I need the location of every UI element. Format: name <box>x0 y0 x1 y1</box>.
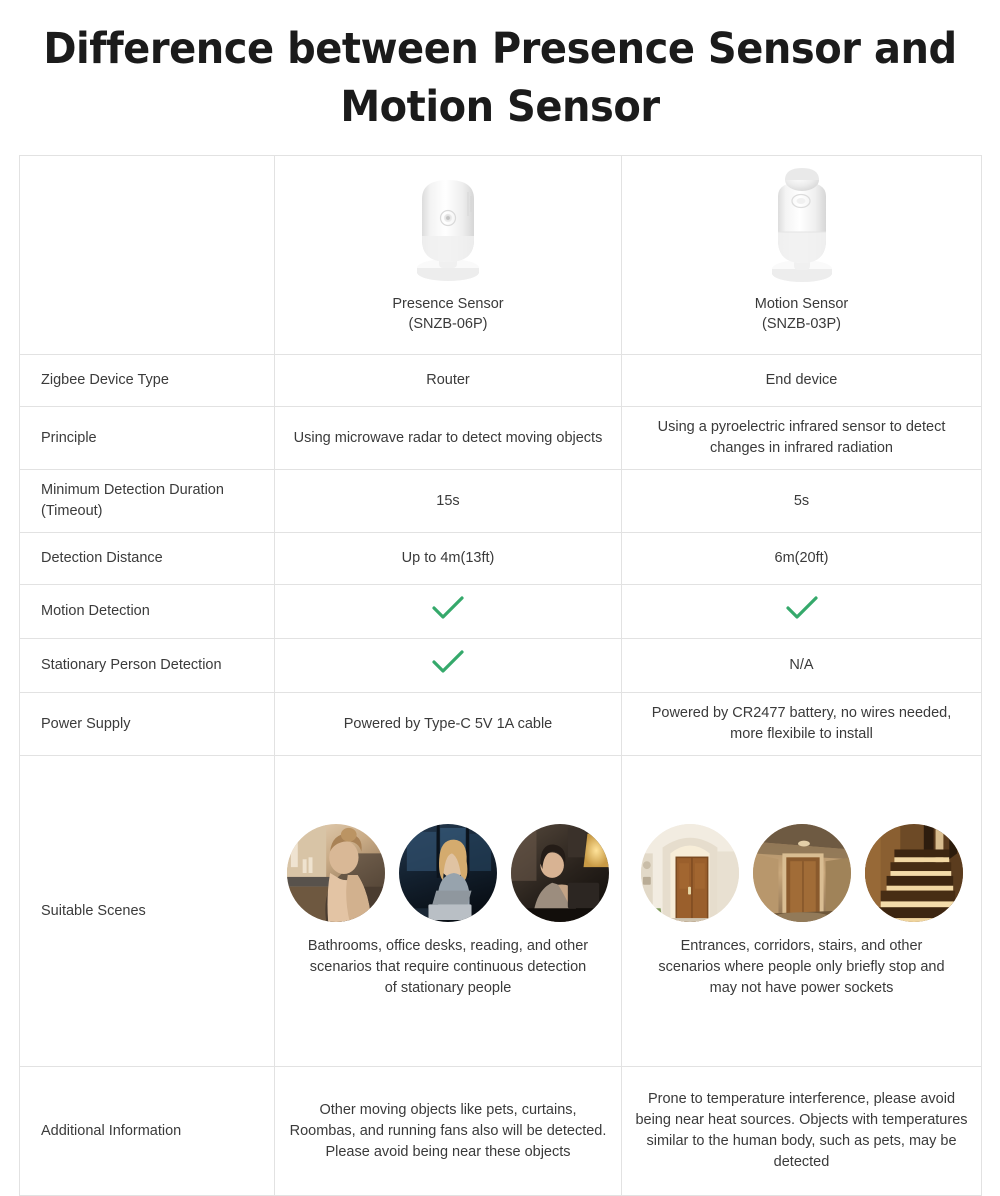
product-a-header-cell: Presence Sensor (SNZB-06P) <box>275 156 622 355</box>
row-value-b-detection-distance: 6m(20ft) <box>622 533 982 585</box>
scene-caption-b: Entrances, corridors, stairs, and other … <box>634 936 969 1003</box>
row-value-a-stationary-person-detection <box>275 639 622 693</box>
table-header-row: Presence Sensor (SNZB-06P) <box>20 156 982 355</box>
row-value-a-principle: Using microwave radar to detect moving o… <box>275 407 622 470</box>
scene-photo-group-a <box>287 824 609 922</box>
row-value-b-minimum-detection-duration: 5s <box>622 470 982 533</box>
motion-sensor-device-icon <box>742 166 862 290</box>
comparison-page: Difference between Presence Sensor and M… <box>0 0 1000 1088</box>
table-row-suitable-scenes: Suitable Scenes <box>20 756 982 1067</box>
corridor-scene-photo <box>753 824 851 922</box>
row-value-b-stationary-person-detection: N/A <box>622 639 982 693</box>
row-value-b-motion-detection <box>622 585 982 639</box>
scene-photo-group-b <box>634 824 969 922</box>
row-label-suitable-scenes: Suitable Scenes <box>20 756 275 1067</box>
bathroom-scene-photo <box>287 824 385 922</box>
row-value-a-detection-distance: Up to 4m(13ft) <box>275 533 622 585</box>
product-b-name: Motion Sensor <box>755 294 849 314</box>
row-value-b-zigbee-device-type: End device <box>622 355 982 407</box>
stairs-scene-photo <box>865 824 963 922</box>
office-desk-scene-photo <box>399 824 497 922</box>
row-label-power-supply: Power Supply <box>20 693 275 756</box>
presence-sensor-device-icon <box>388 166 508 290</box>
table-row: Zigbee Device Type Router End device <box>20 355 982 407</box>
comparison-table: Presence Sensor (SNZB-06P) <box>19 155 982 1196</box>
row-label-zigbee-device-type: Zigbee Device Type <box>20 355 275 407</box>
row-value-a-power-supply: Powered by Type-C 5V 1A cable <box>275 693 622 756</box>
table-row: Minimum Detection Duration (Timeout) 15s… <box>20 470 982 533</box>
page-title: Difference between Presence Sensor and M… <box>35 20 965 136</box>
row-value-b-power-supply: Powered by CR2477 battery, no wires need… <box>622 693 982 756</box>
table-row: Power Supply Powered by Type-C 5V 1A cab… <box>20 693 982 756</box>
table-row-additional-information: Additional Information Other moving obje… <box>20 1067 982 1196</box>
row-label-motion-detection: Motion Detection <box>20 585 275 639</box>
table-row: Motion Detection <box>20 585 982 639</box>
product-a-name: Presence Sensor <box>392 294 503 314</box>
product-b-header-cell: Motion Sensor (SNZB-03P) <box>622 156 982 355</box>
table-row: Detection Distance Up to 4m(13ft) 6m(20f… <box>20 533 982 585</box>
row-label-stationary-person-detection: Stationary Person Detection <box>20 639 275 693</box>
row-value-a-zigbee-device-type: Router <box>275 355 622 407</box>
check-icon <box>785 595 819 621</box>
scene-caption-a: Bathrooms, office desks, reading, and ot… <box>287 936 609 1003</box>
row-label-detection-distance: Detection Distance <box>20 533 275 585</box>
check-icon <box>431 595 465 621</box>
entrance-door-scene-photo <box>641 824 739 922</box>
row-label-principle: Principle <box>20 407 275 470</box>
row-label-additional-information: Additional Information <box>20 1067 275 1196</box>
reading-scene-photo <box>511 824 609 922</box>
row-value-b-suitable-scenes: Entrances, corridors, stairs, and other … <box>622 756 982 1067</box>
table-row: Principle Using microwave radar to detec… <box>20 407 982 470</box>
header-empty-cell <box>20 156 275 355</box>
row-label-minimum-detection-duration: Minimum Detection Duration (Timeout) <box>20 470 275 533</box>
table-row: Stationary Person Detection N/A <box>20 639 982 693</box>
product-a-model: (SNZB-06P) <box>392 314 503 334</box>
row-value-a-suitable-scenes: Bathrooms, office desks, reading, and ot… <box>275 756 622 1067</box>
product-b-model: (SNZB-03P) <box>755 314 849 334</box>
row-value-a-motion-detection <box>275 585 622 639</box>
row-value-b-principle: Using a pyroelectric infrared sensor to … <box>622 407 982 470</box>
row-value-b-additional-information: Prone to temperature interference, pleas… <box>622 1067 982 1196</box>
row-value-a-additional-information: Other moving objects like pets, curtains… <box>275 1067 622 1196</box>
check-icon <box>431 649 465 675</box>
row-value-a-minimum-detection-duration: 15s <box>275 470 622 533</box>
